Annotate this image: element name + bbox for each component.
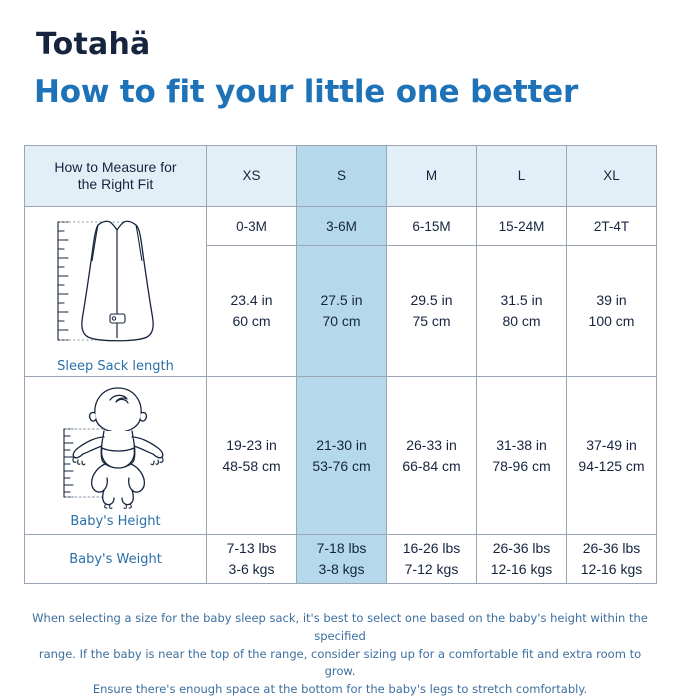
- header-size-s[interactable]: S: [297, 146, 387, 207]
- footnote-line-1: When selecting a size for the baby sleep…: [24, 610, 656, 646]
- length-value-xl-in: 39 in: [567, 290, 656, 311]
- height-value-xl: 37-49 in 94-125 cm: [567, 377, 657, 535]
- length-value-xl-cm: 100 cm: [567, 311, 656, 332]
- height-value-m-in: 26-33 in: [387, 435, 476, 456]
- header-measure-label-line1: How to Measure for: [39, 159, 192, 177]
- table-header-row: How to Measure for the Right Fit XS S M …: [25, 146, 657, 207]
- length-value-m-cm: 75 cm: [387, 311, 476, 332]
- length-value-xl: 39 in 100 cm: [567, 246, 657, 377]
- height-value-l-in: 31-38 in: [477, 435, 566, 456]
- height-value-xs-cm: 48-58 cm: [207, 456, 296, 477]
- babys-height-caption: Baby's Height: [70, 514, 160, 529]
- length-value-s-cm: 70 cm: [297, 311, 386, 332]
- age-value-m: 6-15M: [387, 207, 477, 246]
- age-value-s: 3-6M: [297, 207, 387, 246]
- height-value-m: 26-33 in 66-84 cm: [387, 377, 477, 535]
- header-size-xs[interactable]: XS: [207, 146, 297, 207]
- height-value-xl-in: 37-49 in: [567, 435, 656, 456]
- age-value-l: 15-24M: [477, 207, 567, 246]
- weight-value-xs: 7-13 lbs 3-6 kgs: [207, 535, 297, 584]
- weight-value-xs-kgs: 3-6 kgs: [207, 559, 296, 580]
- brand-logo: Totahä: [36, 27, 150, 62]
- babys-weight-label: Baby's Weight: [69, 552, 162, 567]
- header-size-l[interactable]: L: [477, 146, 567, 207]
- weight-value-m-kgs: 7-12 kgs: [387, 559, 476, 580]
- table-row-age: Sleep Sack length 0-3M 3-6M 6-15M 15-24M…: [25, 207, 657, 246]
- sleep-sack-illustration-inner: Sleep Sack length: [25, 209, 206, 374]
- footnote: When selecting a size for the baby sleep…: [24, 610, 656, 699]
- weight-value-xl: 26-36 lbs 12-16 kgs: [567, 535, 657, 584]
- height-value-s-in: 21-30 in: [297, 435, 386, 456]
- weight-value-m: 16-26 lbs 7-12 kgs: [387, 535, 477, 584]
- weight-value-l-kgs: 12-16 kgs: [477, 559, 566, 580]
- sleep-sack-icon: [36, 209, 196, 357]
- length-value-xs: 23.4 in 60 cm: [207, 246, 297, 377]
- weight-value-m-lbs: 16-26 lbs: [387, 538, 476, 559]
- table-row-babys-height: Baby's Height 19-23 in 48-58 cm 21-30 in…: [25, 377, 657, 535]
- height-value-xs-in: 19-23 in: [207, 435, 296, 456]
- length-value-s-in: 27.5 in: [297, 290, 386, 311]
- sleep-sack-illustration-cell: Sleep Sack length: [25, 207, 207, 377]
- length-value-l-in: 31.5 in: [477, 290, 566, 311]
- header-measure-label: How to Measure for the Right Fit: [25, 146, 207, 207]
- length-value-s: 27.5 in 70 cm: [297, 246, 387, 377]
- length-value-xs-cm: 60 cm: [207, 311, 296, 332]
- height-value-xl-cm: 94-125 cm: [567, 456, 656, 477]
- page-title: How to fit your little one better: [34, 74, 578, 110]
- weight-value-l-lbs: 26-36 lbs: [477, 538, 566, 559]
- length-value-l: 31.5 in 80 cm: [477, 246, 567, 377]
- length-value-l-cm: 80 cm: [477, 311, 566, 332]
- baby-icon: [32, 382, 200, 512]
- sleep-sack-length-caption: Sleep Sack length: [57, 359, 174, 374]
- header-measure-label-line2: the Right Fit: [39, 176, 192, 194]
- size-chart-table: How to Measure for the Right Fit XS S M …: [24, 145, 657, 584]
- length-value-xs-in: 23.4 in: [207, 290, 296, 311]
- weight-value-xs-lbs: 7-13 lbs: [207, 538, 296, 559]
- size-chart-table-wrapper: How to Measure for the Right Fit XS S M …: [24, 145, 656, 584]
- height-value-xs: 19-23 in 48-58 cm: [207, 377, 297, 535]
- header-size-xl[interactable]: XL: [567, 146, 657, 207]
- weight-value-s-lbs: 7-18 lbs: [297, 538, 386, 559]
- footnote-line-2: range. If the baby is near the top of th…: [24, 646, 656, 682]
- header-size-m[interactable]: M: [387, 146, 477, 207]
- weight-value-s-kgs: 3-8 kgs: [297, 559, 386, 580]
- height-value-l-cm: 78-96 cm: [477, 456, 566, 477]
- baby-illustration-cell: Baby's Height: [25, 377, 207, 535]
- height-value-l: 31-38 in 78-96 cm: [477, 377, 567, 535]
- weight-value-xl-kgs: 12-16 kgs: [567, 559, 656, 580]
- height-value-s: 21-30 in 53-76 cm: [297, 377, 387, 535]
- weight-value-l: 26-36 lbs 12-16 kgs: [477, 535, 567, 584]
- age-value-xs: 0-3M: [207, 207, 297, 246]
- baby-illustration-inner: Baby's Height: [25, 382, 206, 529]
- table-row-babys-weight: Baby's Weight 7-13 lbs 3-6 kgs 7-18 lbs …: [25, 535, 657, 584]
- height-value-m-cm: 66-84 cm: [387, 456, 476, 477]
- height-value-s-cm: 53-76 cm: [297, 456, 386, 477]
- weight-value-s: 7-18 lbs 3-8 kgs: [297, 535, 387, 584]
- size-chart-page: Totahä How to fit your little one better…: [0, 0, 679, 679]
- babys-weight-label-cell: Baby's Weight: [25, 535, 207, 584]
- weight-value-xl-lbs: 26-36 lbs: [567, 538, 656, 559]
- age-value-xl: 2T-4T: [567, 207, 657, 246]
- length-value-m: 29.5 in 75 cm: [387, 246, 477, 377]
- length-value-m-in: 29.5 in: [387, 290, 476, 311]
- footnote-line-3: Ensure there's enough space at the botto…: [24, 681, 656, 699]
